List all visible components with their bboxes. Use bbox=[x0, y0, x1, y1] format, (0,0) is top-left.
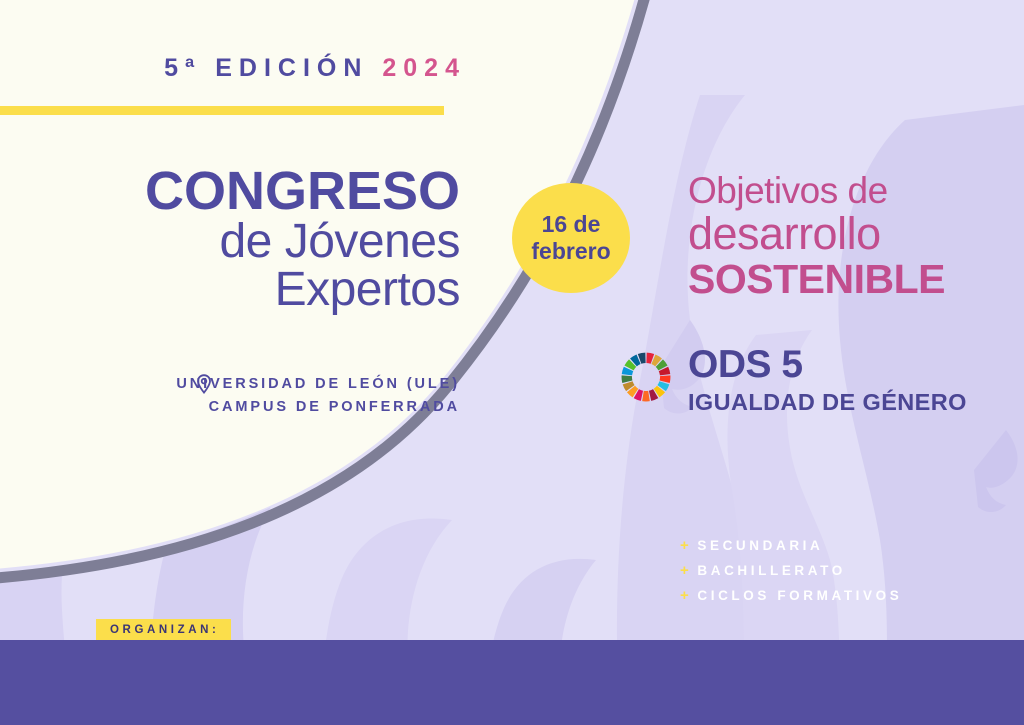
date-badge: 16 de febrero bbox=[512, 183, 630, 293]
venue-info: UNIVERSIDAD DE LEÓN (ULE) CAMPUS DE PONF… bbox=[20, 373, 460, 419]
audience-label: BACHILLERATO bbox=[697, 564, 845, 578]
sdg-heading-line-2: desarrollo bbox=[688, 211, 1008, 256]
title-line-2: de Jóvenes bbox=[20, 218, 460, 266]
sdg-goal-block: ODS 5 IGUALDAD DE GÉNERO bbox=[620, 345, 967, 415]
sdg-color-wheel-icon bbox=[620, 351, 672, 403]
audience-label: SECUNDARIA bbox=[697, 539, 823, 553]
organizers-label: ORGANIZAN: bbox=[96, 619, 231, 641]
footer-logo-row: la fábrica de luz MUSEO DE LA ENERGÍA MI… bbox=[0, 640, 1024, 725]
title-line-1: CONGRESO bbox=[20, 165, 460, 218]
list-item: + BACHILLERATO bbox=[680, 563, 902, 578]
venue-line-1: UNIVERSIDAD DE LEÓN (ULE) bbox=[20, 373, 460, 396]
yellow-rule-divider bbox=[0, 106, 444, 115]
audience-list: + SECUNDARIA + BACHILLERATO + CICLOS FOR… bbox=[680, 538, 902, 613]
title-line-3: Expertos bbox=[20, 266, 460, 314]
venue-line-2: CAMPUS DE PONFERRADA bbox=[20, 396, 460, 419]
plus-icon: + bbox=[680, 588, 692, 603]
page-title: CONGRESO de Jóvenes Expertos bbox=[20, 165, 460, 313]
list-item: + CICLOS FORMATIVOS bbox=[680, 588, 902, 603]
sdg-goal-name: IGUALDAD DE GÉNERO bbox=[688, 391, 967, 415]
list-item: + SECUNDARIA bbox=[680, 538, 902, 553]
audience-label: CICLOS FORMATIVOS bbox=[697, 589, 902, 603]
date-month: febrero bbox=[531, 238, 610, 265]
poster-canvas: 5ª EDICIÓN 2024 CONGRESO de Jóvenes Expe… bbox=[0, 0, 1024, 725]
edition-line: 5ª EDICIÓN 2024 bbox=[0, 54, 466, 83]
sdg-heading-line-1: Objetivos de bbox=[688, 172, 1008, 209]
sdg-goal-code: ODS 5 bbox=[688, 345, 967, 384]
sdg-heading: Objetivos de desarrollo SOSTENIBLE bbox=[688, 172, 1008, 300]
edition-number: 5ª EDICIÓN bbox=[164, 54, 368, 82]
edition-year: 2024 bbox=[382, 54, 466, 82]
plus-icon: + bbox=[680, 538, 692, 553]
sdg-heading-line-3: SOSTENIBLE bbox=[688, 259, 1008, 300]
date-day: 16 de bbox=[531, 211, 610, 238]
plus-icon: + bbox=[680, 563, 692, 578]
